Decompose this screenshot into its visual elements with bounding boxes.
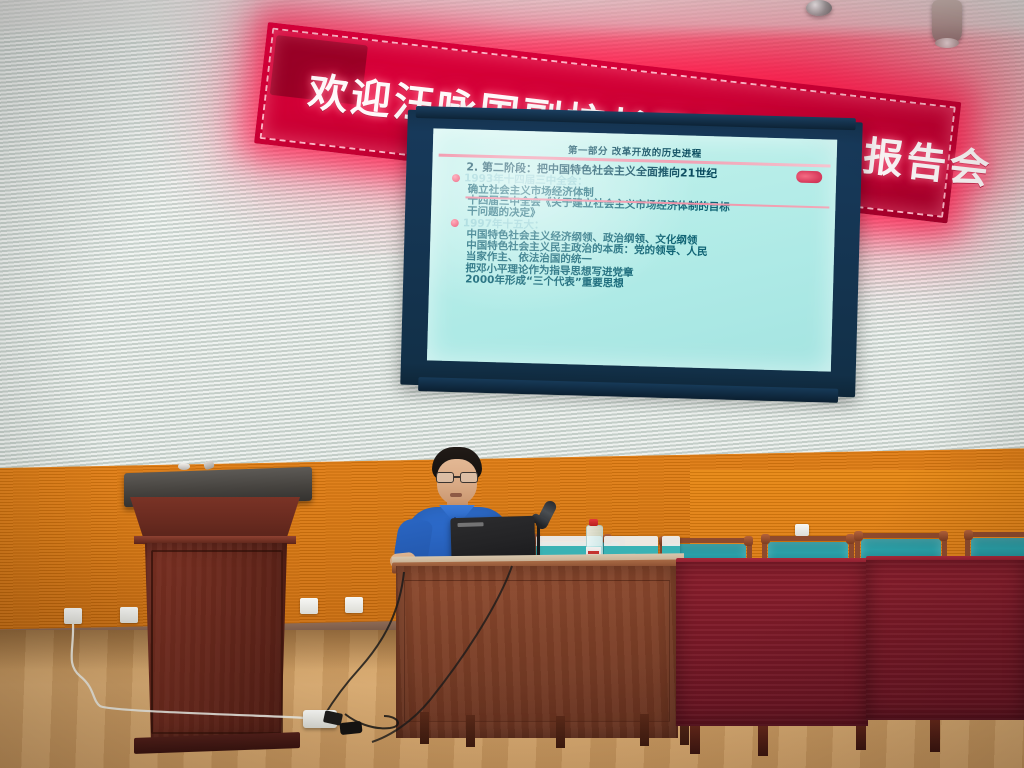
table-leg bbox=[420, 712, 429, 744]
bullet-icon bbox=[452, 174, 460, 182]
ceiling-spotlight-icon bbox=[932, 0, 962, 44]
table-leg bbox=[466, 715, 475, 747]
ceiling bbox=[0, 0, 1024, 40]
podium-flare bbox=[130, 497, 300, 539]
table-leg bbox=[758, 722, 768, 756]
podium-front-panel bbox=[151, 550, 283, 734]
lecture-hall-photo: 欢迎汪咏国副校长开展讲党课报告会 第一部分 改革开放的历史进程 2. 第二阶段：… bbox=[0, 0, 1024, 768]
table-leg bbox=[930, 718, 940, 752]
chair-knob bbox=[744, 536, 753, 546]
table-skirt bbox=[866, 560, 1024, 720]
chair-knob bbox=[964, 530, 973, 540]
slide-lines: 1993年十四届三中全会：确立社会主义市场经济体制十四届三中全会《关于建立社会主… bbox=[439, 172, 828, 295]
table-leg bbox=[640, 714, 649, 746]
bottle-cap bbox=[589, 519, 598, 526]
chair-knob bbox=[761, 534, 770, 544]
projection-screen: 第一部分 改革开放的历史进程 2. 第二阶段：把中国特色社会主义全面推向21世纪… bbox=[400, 110, 863, 398]
power-plug bbox=[339, 721, 362, 735]
table-leg bbox=[556, 716, 565, 748]
laptop-brand-logo bbox=[457, 522, 483, 527]
chair-knob bbox=[939, 531, 948, 541]
table-front-panel bbox=[404, 580, 670, 722]
ceiling-spotlight-icon bbox=[806, 0, 832, 16]
podium-lip bbox=[134, 536, 296, 544]
lectern-podium bbox=[118, 470, 318, 760]
table-skirt bbox=[676, 562, 868, 726]
chair-knob bbox=[854, 531, 863, 541]
speaker-mouth bbox=[450, 493, 462, 497]
slide-body: 2. 第二阶段：把中国特色社会主义全面推向21世纪 1993年十四届三中全会：确… bbox=[439, 161, 828, 296]
presentation-slide: 第一部分 改革开放的历史进程 2. 第二阶段：把中国特色社会主义全面推向21世纪… bbox=[427, 128, 837, 371]
bullet-icon bbox=[451, 219, 459, 227]
glasses-bridge bbox=[454, 476, 461, 478]
wall-outlet-icon bbox=[64, 608, 82, 624]
wall-outlet-icon bbox=[345, 597, 363, 613]
